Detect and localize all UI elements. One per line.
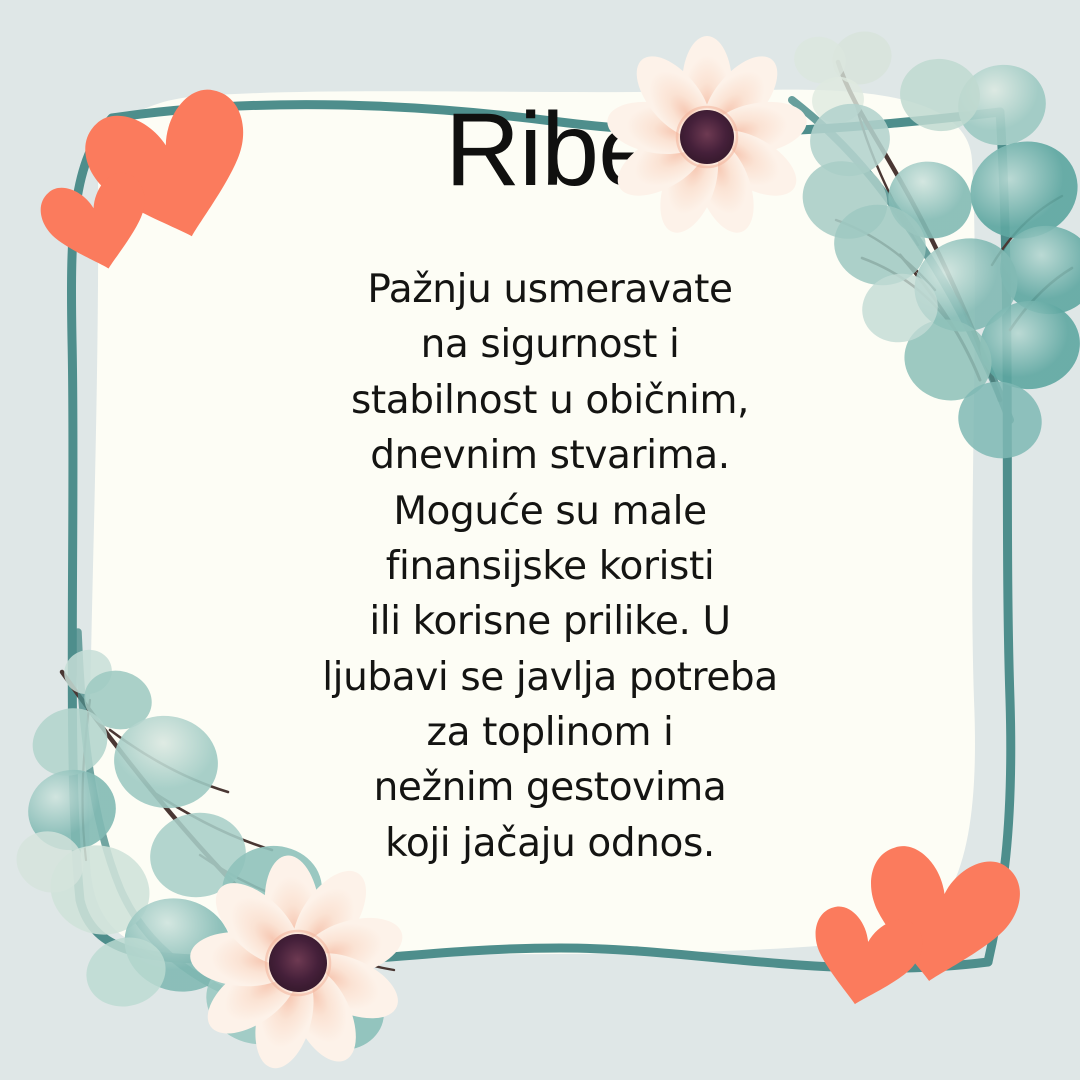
anemone-flower-top [603, 36, 811, 240]
flower-center [680, 110, 734, 164]
anemone-flower-bottom [176, 844, 420, 1080]
flower-decorations [0, 0, 1080, 1080]
poster-canvas: Ribe Pažnju usmeravate na sigurnost i st… [0, 0, 1080, 1080]
